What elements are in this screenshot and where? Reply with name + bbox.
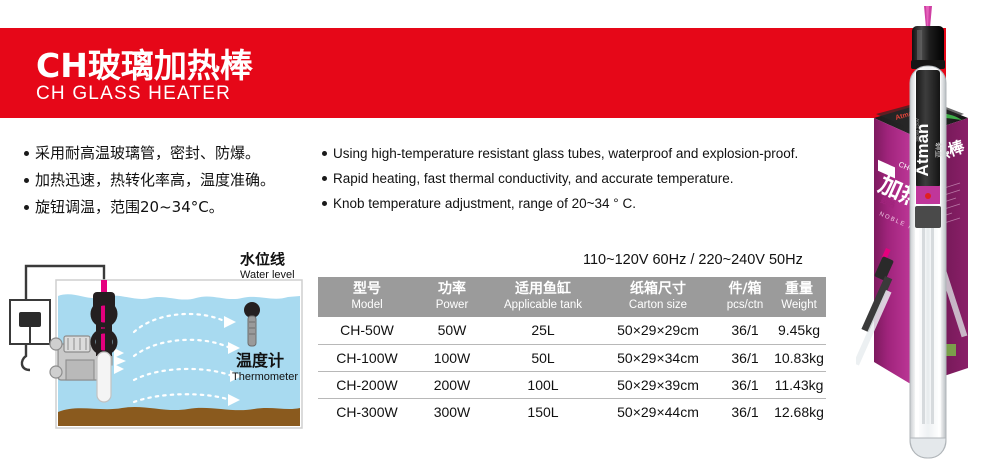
table-row: CH-50W 50W 25L 50×29×29cm 36/1 9.45kg bbox=[318, 317, 826, 344]
product-cap-highlight bbox=[917, 30, 922, 62]
cell-carton: 50×29×39cm bbox=[598, 371, 718, 398]
cell-weight: 9.45kg bbox=[772, 317, 826, 344]
cell-weight: 10.83kg bbox=[772, 344, 826, 371]
column-header-power: 功率 Power bbox=[416, 277, 488, 317]
water-level-label-cn: 水位线 bbox=[240, 252, 285, 268]
product-spec-print: 300W 220V bbox=[915, 118, 920, 142]
cell-tank: 50L bbox=[488, 344, 598, 371]
cell-pcs: 36/1 bbox=[718, 398, 772, 425]
table-row: CH-100W 100W 50L 50×29×34cm 36/1 10.83kg bbox=[318, 344, 826, 371]
product-heating-rod-right bbox=[931, 228, 934, 424]
feature-text: 旋钮调温，范围20~34°C。 bbox=[35, 197, 224, 218]
bullet-icon bbox=[322, 176, 327, 181]
column-header-cn: 重量 bbox=[772, 281, 826, 298]
spec-table-body: CH-50W 50W 25L 50×29×29cm 36/1 9.45kg CH… bbox=[318, 317, 826, 425]
column-header-cn: 功率 bbox=[416, 281, 488, 298]
banner-title-cn: CH玻璃加热棒 bbox=[36, 39, 253, 87]
product-indicator-light bbox=[925, 193, 931, 199]
product-inner-collar bbox=[915, 206, 941, 228]
cell-power: 200W bbox=[416, 371, 488, 398]
feature-text: 加热迅速，热转化率高，温度准确。 bbox=[35, 170, 275, 191]
cell-tank: 25L bbox=[488, 317, 598, 344]
thermometer-label-cn: 温度计 bbox=[235, 351, 284, 370]
aquarium-diagram-svg: 水位线 Water level 温度计 Thermometer bbox=[8, 252, 310, 442]
column-header-carton: 纸箱尺寸 Carton size bbox=[598, 277, 718, 317]
table-row: CH-300W 300W 150L 50×29×44cm 36/1 12.68k… bbox=[318, 398, 826, 425]
column-header-cn: 适用鱼缸 bbox=[488, 281, 598, 298]
column-header-en: pcs/ctn bbox=[718, 298, 772, 312]
heater-glass-tube bbox=[97, 352, 111, 402]
product-tube-bottom-tip bbox=[910, 438, 946, 458]
cell-model: CH-100W bbox=[318, 344, 416, 371]
aquarium-diagram: 水位线 Water level 温度计 Thermometer bbox=[8, 252, 310, 442]
feature-item: Knob temperature adjustment, range of 20… bbox=[322, 194, 852, 214]
thermometer-body bbox=[248, 316, 256, 346]
cell-model: CH-50W bbox=[318, 317, 416, 344]
product-photo: Atman 数热 CH-300W 加热棒 NOBLE HEATER bbox=[856, 0, 1000, 468]
cell-weight: 11.43kg bbox=[772, 371, 826, 398]
cell-carton: 50×29×44cm bbox=[598, 398, 718, 425]
cell-tank: 150L bbox=[488, 398, 598, 425]
heater-product: Atman 亚峰 300W 220V bbox=[910, 6, 946, 458]
heater-indicator-stripe bbox=[101, 304, 105, 352]
cell-power: 100W bbox=[416, 344, 488, 371]
cell-model: CH-300W bbox=[318, 398, 416, 425]
feature-text: Using high-temperature resistant glass t… bbox=[333, 144, 798, 164]
feature-item: 加热迅速，热转化率高，温度准确。 bbox=[24, 170, 324, 191]
cell-carton: 50×29×34cm bbox=[598, 344, 718, 371]
cell-power: 50W bbox=[416, 317, 488, 344]
column-header-tank: 适用鱼缸 Applicable tank bbox=[488, 277, 598, 317]
column-header-en: Model bbox=[318, 298, 416, 312]
feature-item: 采用耐高温玻璃管，密封、防爆。 bbox=[24, 143, 324, 164]
column-header-cn: 件/箱 bbox=[718, 281, 772, 298]
bullet-icon bbox=[24, 151, 29, 156]
product-heating-rod-left bbox=[922, 228, 925, 424]
cell-model: CH-200W bbox=[318, 371, 416, 398]
spec-table-head: 型号 Model 功率 Power 适用鱼缸 Applicable tank 纸… bbox=[318, 277, 826, 317]
column-header-en: Power bbox=[416, 298, 488, 312]
product-photo-svg: Atman 数热 CH-300W 加热棒 NOBLE HEATER bbox=[856, 0, 1000, 468]
table-header-row: 型号 Model 功率 Power 适用鱼缸 Applicable tank 纸… bbox=[318, 277, 826, 317]
table-row: CH-200W 200W 100L 50×29×39cm 36/1 11.43k… bbox=[318, 371, 826, 398]
cell-power: 300W bbox=[416, 398, 488, 425]
product-brand-cn: 亚峰 bbox=[934, 142, 944, 158]
thermometer-label-en: Thermometer bbox=[232, 371, 298, 383]
feature-text: Knob temperature adjustment, range of 20… bbox=[333, 194, 636, 214]
spec-table: 型号 Model 功率 Power 适用鱼缸 Applicable tank 纸… bbox=[318, 277, 826, 425]
bullet-icon bbox=[322, 151, 327, 156]
header-banner: CH玻璃加热棒 CH GLASS HEATER bbox=[0, 28, 946, 118]
cell-pcs: 36/1 bbox=[718, 317, 772, 344]
cell-pcs: 36/1 bbox=[718, 344, 772, 371]
spec-table-wrap: 型号 Model 功率 Power 适用鱼缸 Applicable tank 纸… bbox=[318, 277, 826, 425]
feature-item: Using high-temperature resistant glass t… bbox=[322, 144, 852, 164]
column-header-en: Weight bbox=[772, 298, 826, 312]
feature-item: 旋钮调温，范围20~34°C。 bbox=[24, 197, 324, 218]
column-header-pcs: 件/箱 pcs/ctn bbox=[718, 277, 772, 317]
cell-tank: 100L bbox=[488, 371, 598, 398]
cell-pcs: 36/1 bbox=[718, 371, 772, 398]
water-level-label-en: Water level bbox=[240, 269, 295, 281]
outlet-socket-icon bbox=[19, 312, 41, 327]
voltage-spec: 110~120V 60Hz / 220~240V 50Hz bbox=[583, 252, 803, 268]
banner-title-en: CH GLASS HEATER bbox=[36, 83, 231, 105]
features-list-en: Using high-temperature resistant glass t… bbox=[322, 144, 852, 219]
features-list-cn: 采用耐高温玻璃管，密封、防爆。 加热迅速，热转化率高，温度准确。 旋钮调温，范围… bbox=[24, 143, 324, 224]
cell-weight: 12.68kg bbox=[772, 398, 826, 425]
column-header-model: 型号 Model bbox=[318, 277, 416, 317]
feature-text: 采用耐高温玻璃管，密封、防爆。 bbox=[35, 143, 260, 164]
column-header-cn: 型号 bbox=[318, 281, 416, 298]
column-header-en: Applicable tank bbox=[488, 298, 598, 312]
bullet-icon bbox=[24, 178, 29, 183]
box-front-face bbox=[874, 118, 914, 386]
column-header-en: Carton size bbox=[598, 298, 718, 312]
bullet-icon bbox=[24, 205, 29, 210]
cell-carton: 50×29×29cm bbox=[598, 317, 718, 344]
column-header-weight: 重量 Weight bbox=[772, 277, 826, 317]
column-header-cn: 纸箱尺寸 bbox=[598, 281, 718, 298]
bullet-icon bbox=[322, 201, 327, 206]
product-heating-rod-center bbox=[927, 228, 930, 424]
feature-text: Rapid heating, fast thermal conductivity… bbox=[333, 169, 733, 189]
product-datasheet-page: CH玻璃加热棒 CH GLASS HEATER 采用耐高温玻璃管，密封、防爆。 … bbox=[0, 0, 1000, 468]
feature-item: Rapid heating, fast thermal conductivity… bbox=[322, 169, 852, 189]
